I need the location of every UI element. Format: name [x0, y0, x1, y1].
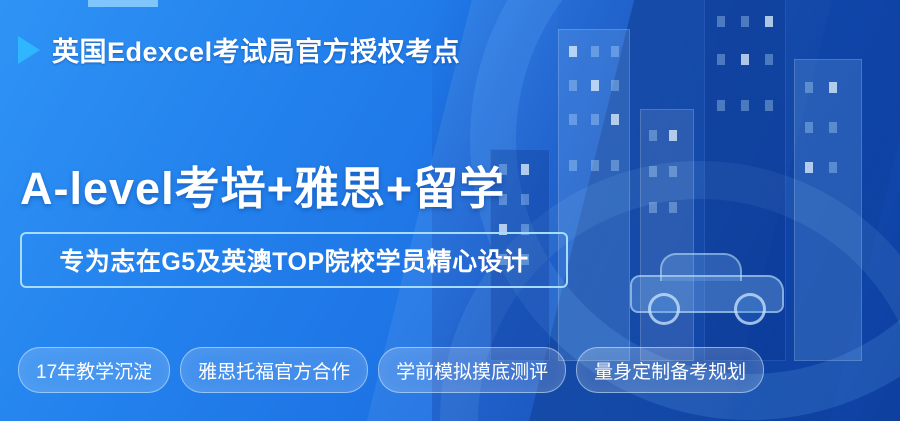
car-wheel: [734, 293, 766, 325]
building-window: [611, 114, 619, 125]
feature-pill: 量身定制备考规划: [576, 347, 764, 393]
building-window: [649, 166, 657, 177]
building-window: [741, 54, 749, 65]
building-window: [611, 46, 619, 57]
car-illustration: [630, 259, 780, 325]
building-window: [805, 82, 813, 93]
building-window: [765, 54, 773, 65]
building-window: [521, 194, 529, 205]
building-window: [521, 164, 529, 175]
building: [794, 59, 862, 361]
building-window: [669, 202, 677, 213]
building-window: [765, 16, 773, 27]
building-window: [611, 160, 619, 171]
building-window: [829, 122, 837, 133]
building-window: [717, 16, 725, 27]
building-window: [669, 166, 677, 177]
subheadline-box: 专为志在G5及英澳TOP院校学员精心设计: [20, 232, 568, 288]
building-window: [591, 46, 599, 57]
building-window: [591, 80, 599, 91]
building-window: [829, 162, 837, 173]
building-window: [829, 82, 837, 93]
authorization-badge: 英国Edexcel考试局官方授权考点: [18, 30, 460, 69]
building-window: [669, 130, 677, 141]
building-window: [591, 114, 599, 125]
building-window: [591, 160, 599, 171]
feature-pill: 雅思托福官方合作: [180, 347, 368, 393]
building-window: [717, 100, 725, 111]
building-window: [741, 16, 749, 27]
car-wheel: [648, 293, 680, 325]
building-window: [569, 80, 577, 91]
building-window: [717, 54, 725, 65]
building-window: [611, 80, 619, 91]
building-window: [649, 130, 657, 141]
promo-banner: 英国Edexcel考试局官方授权考点 A-level考培+雅思+留学 专为志在G…: [0, 0, 900, 421]
play-triangle-icon: [18, 36, 40, 64]
building-window: [569, 114, 577, 125]
building-window: [569, 46, 577, 57]
feature-pill: 学前模拟摸底测评: [378, 347, 566, 393]
building-window: [805, 122, 813, 133]
building-window: [805, 162, 813, 173]
subheadline-text: 专为志在G5及英澳TOP院校学员精心设计: [59, 242, 528, 278]
building-window: [649, 202, 657, 213]
building-window: [765, 100, 773, 111]
feature-pill-row: 17年教学沉淀 雅思托福官方合作 学前模拟摸底测评 量身定制备考规划: [18, 347, 764, 393]
authorization-badge-text: 英国Edexcel考试局官方授权考点: [52, 30, 460, 69]
page-title: A-level考培+雅思+留学: [20, 152, 505, 217]
building: [558, 29, 630, 361]
feature-pill: 17年教学沉淀: [18, 347, 170, 393]
top-accent-bar: [88, 0, 158, 7]
building-window: [741, 100, 749, 111]
building-window: [569, 160, 577, 171]
